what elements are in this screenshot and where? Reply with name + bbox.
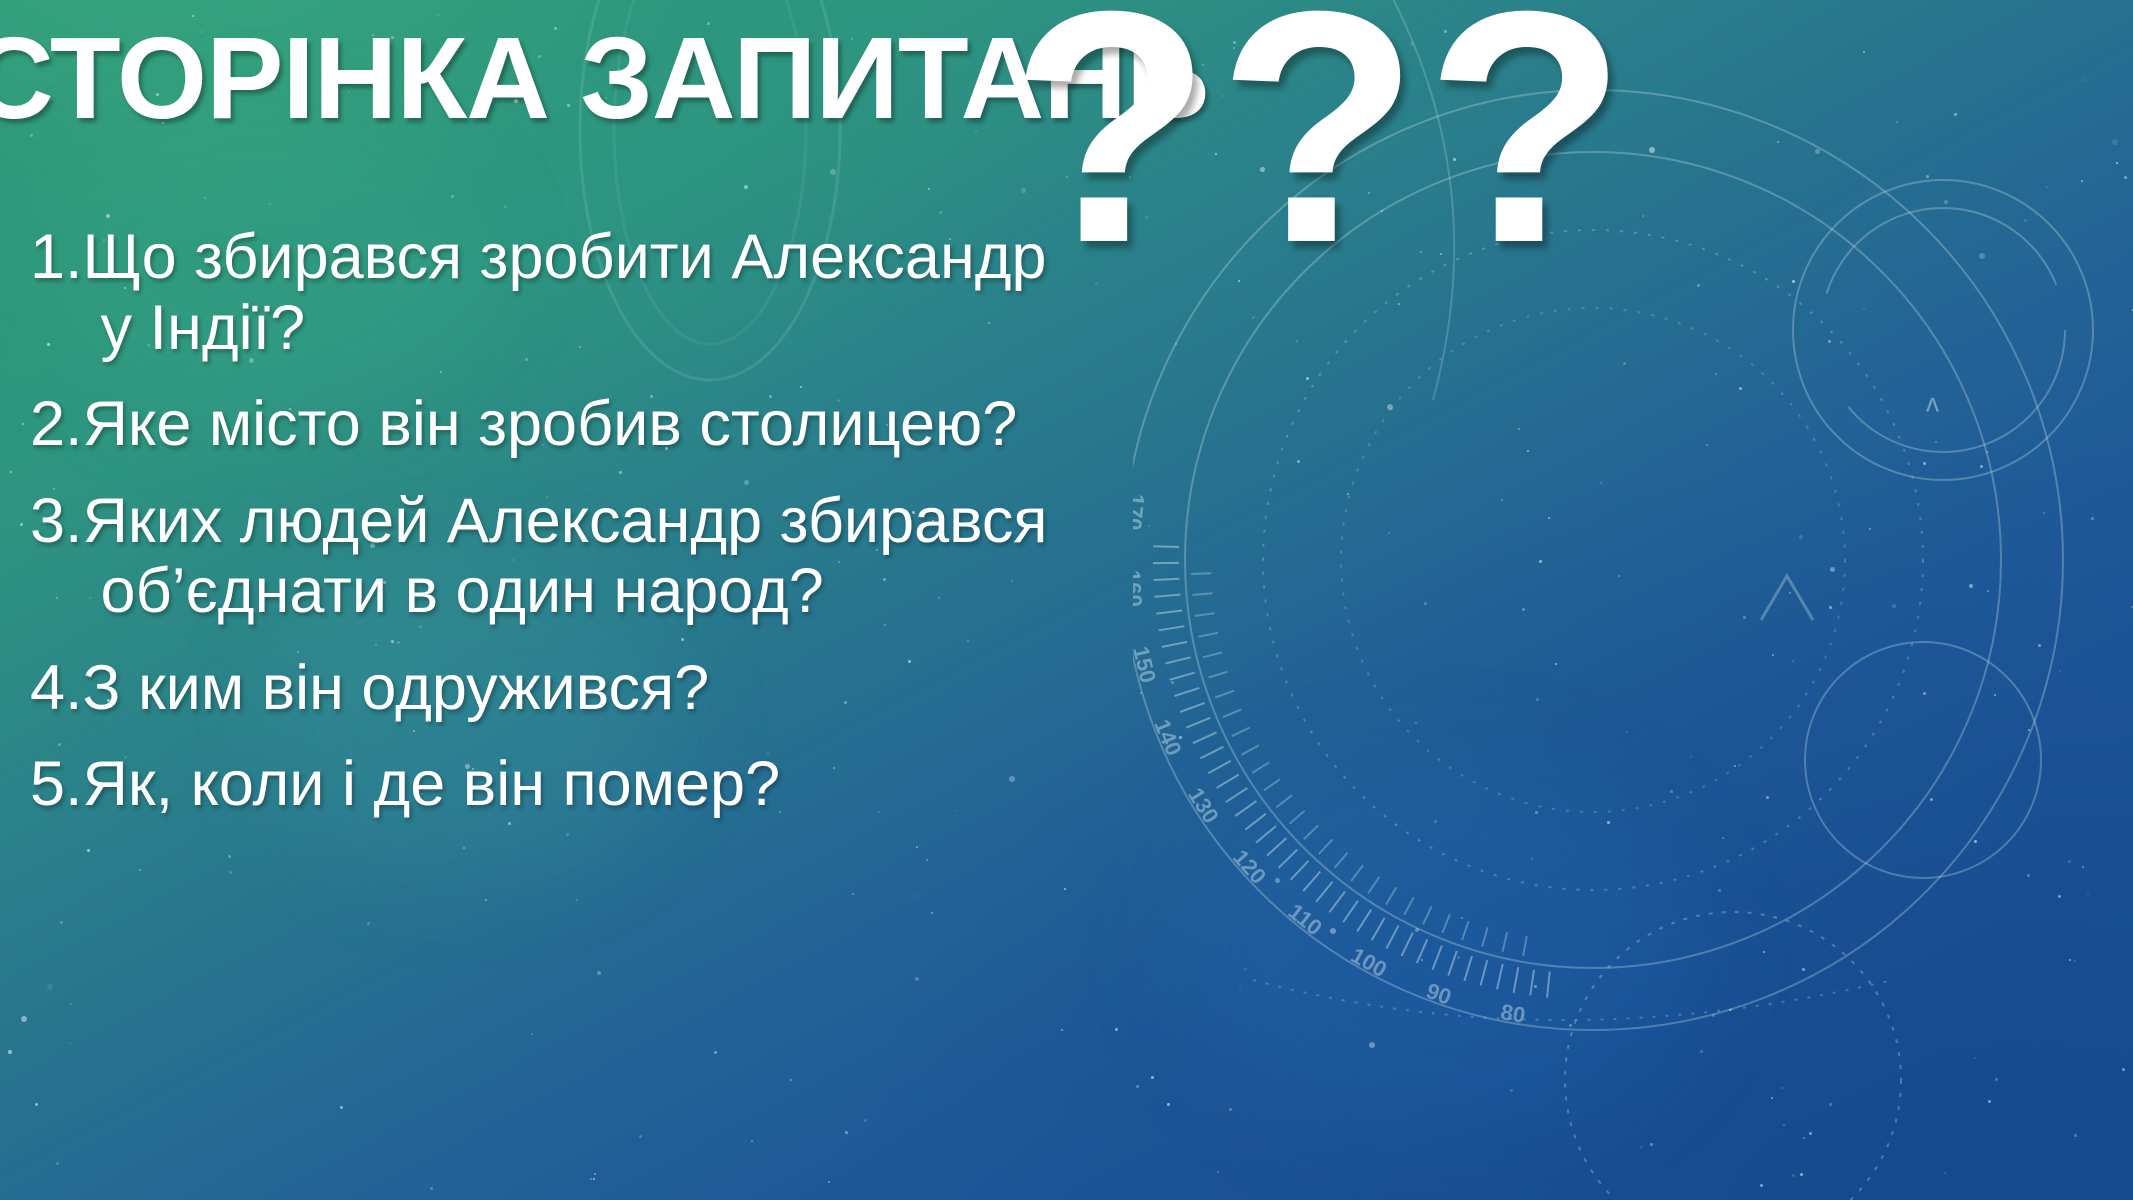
list-item-line-1: Як, коли і де він помер? <box>83 749 781 819</box>
list-item-number: 2. <box>30 389 83 460</box>
svg-text:120: 120 <box>1228 845 1271 889</box>
question-mark-icon-3: ? <box>1425 0 1627 292</box>
list-item: 2. Яке місто він зробив столицею? <box>30 389 1220 460</box>
nebula-blob-2 <box>1180 760 1700 1140</box>
hud-chevron-icon <box>1761 576 1813 620</box>
list-item: 5. Як, коли і де він помер? <box>30 749 1220 820</box>
list-item-line-1: З ким він одружився? <box>83 653 710 723</box>
svg-text:110: 110 <box>1284 899 1327 941</box>
list-item-number: 4. <box>30 653 83 724</box>
question-list: 1. Що збирався зробити Александр у Індії… <box>30 222 1220 846</box>
list-item-text: Яких людей Александр збирався об’єднати … <box>83 486 1220 627</box>
hud-marker-glyph: v <box>1926 392 1939 422</box>
list-item-number: 5. <box>30 749 83 820</box>
list-item-line-2: об’єднати в один народ? <box>83 556 1220 627</box>
question-mark-icon-2: ? <box>1218 0 1420 292</box>
question-mark-decoration: ? ? ? <box>1010 0 1627 292</box>
list-item-number: 1. <box>30 222 83 293</box>
slide-canvas: 1701601501401301201101009080 v СТОРІНКА … <box>0 0 2133 1200</box>
svg-text:90: 90 <box>1423 978 1454 1010</box>
list-item-text: Як, коли і де він помер? <box>83 749 1220 820</box>
list-item: 3. Яких людей Александр збирався об’єдна… <box>30 486 1220 627</box>
list-item-line-1: Яке місто він зробив столицею? <box>83 389 1018 459</box>
svg-text:80: 80 <box>1499 999 1527 1028</box>
list-item-text: Яке місто він зробив столицею? <box>83 389 1220 460</box>
svg-text:100: 100 <box>1347 942 1391 982</box>
question-mark-icon-1: ? <box>1010 0 1212 292</box>
list-item-line-1: Яких людей Александр збирався <box>83 486 1048 556</box>
list-item: 4. З ким він одружився? <box>30 653 1220 724</box>
list-item-number: 3. <box>30 486 83 557</box>
list-item-line-1: Що збирався зробити Александр <box>83 222 1047 292</box>
list-item-text: З ким він одружився? <box>83 653 1220 724</box>
